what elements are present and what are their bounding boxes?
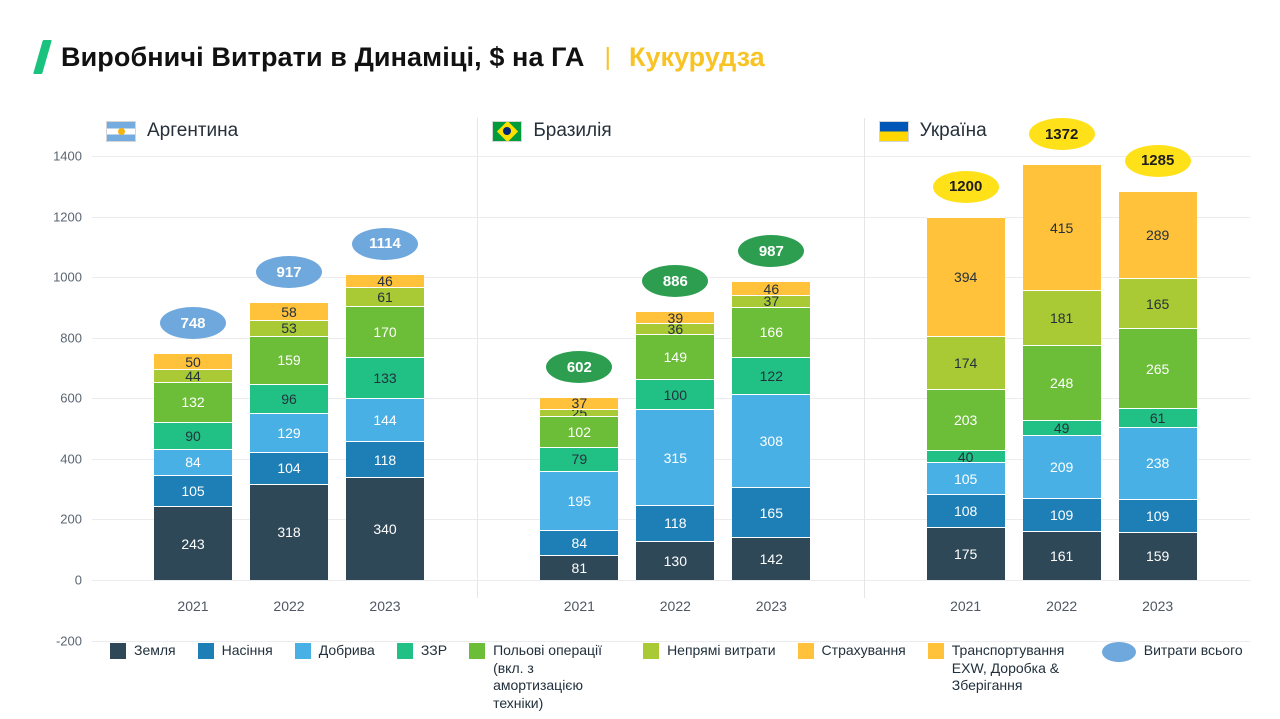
bar-segment[interactable]: 174	[927, 336, 1005, 389]
bar-group[interactable]: 340118144133170614611142023	[346, 118, 424, 598]
bar-group[interactable]: 1751081054020317439412002021	[927, 118, 1005, 598]
legend-item[interactable]: Насіння	[198, 642, 273, 660]
bar-segment[interactable]: 340	[346, 477, 424, 580]
legend-item[interactable]: Непрямі витрати	[643, 642, 775, 660]
x-axis-label: 2023	[732, 598, 810, 614]
total-badge: 1114	[352, 228, 418, 260]
chart-legend: ЗемляНасінняДобриваЗЗРПольові операції (…	[110, 642, 1266, 712]
bar-segment[interactable]: 142	[732, 537, 810, 580]
bar-segment[interactable]: 170	[346, 306, 424, 357]
bar-segment[interactable]: 394	[927, 217, 1005, 336]
legend-item[interactable]: Польові операції (вкл. з амортизацією те…	[469, 642, 621, 712]
legend-label: ЗЗР	[421, 642, 447, 660]
bar-segment[interactable]: 315	[636, 409, 714, 504]
bar-group[interactable]: 13011831510014936398862022	[636, 118, 714, 598]
bar-segment[interactable]: 53	[250, 320, 328, 336]
bar-segment[interactable]: 144	[346, 398, 424, 442]
bar-segment[interactable]: 58	[250, 302, 328, 320]
bar-segment[interactable]: 209	[1023, 435, 1101, 498]
legend-swatch-icon	[469, 643, 485, 659]
x-axis-label: 2022	[1023, 598, 1101, 614]
bar-segment[interactable]: 102	[540, 416, 618, 447]
total-badge: 602	[546, 351, 612, 383]
country-panel-2: Бразилія81841957910225376022021130118315…	[477, 118, 863, 598]
bar-segment[interactable]: 149	[636, 334, 714, 379]
bar-area: 1751081054020317439412002021161109209492…	[865, 118, 1250, 598]
bar-segment[interactable]: 122	[732, 357, 810, 394]
bar-segment[interactable]: 129	[250, 413, 328, 452]
bar-segment[interactable]: 36	[636, 323, 714, 334]
y-axis: 1400120010008006004002000-200	[0, 118, 92, 598]
plot-area: Аргентина2431058490132445074820213181041…	[92, 118, 1250, 598]
stacked-bar[interactable]: 15910923861265165289	[1119, 118, 1197, 598]
stacked-bar[interactable]: 1301183151001493639	[636, 118, 714, 598]
bar-segment[interactable]: 96	[250, 384, 328, 413]
bar-segment[interactable]: 104	[250, 452, 328, 483]
total-badge: 987	[738, 235, 804, 267]
bar-segment[interactable]: 203	[927, 389, 1005, 450]
stacked-bar-chart: 1400120010008006004002000-200 Аргентина2…	[0, 118, 1280, 648]
bar-segment[interactable]: 159	[250, 336, 328, 384]
legend-ellipse-icon	[1102, 642, 1136, 662]
bar-segment[interactable]: 289	[1119, 191, 1197, 279]
title-slash-icon	[33, 40, 52, 74]
x-axis-label: 2021	[927, 598, 1005, 614]
bar-segment[interactable]: 166	[732, 307, 810, 357]
total-badge: 1372	[1029, 118, 1095, 150]
chart-page: Виробничі Витрати в Динаміці, $ на ГА | …	[0, 0, 1280, 719]
legend-swatch-icon	[643, 643, 659, 659]
legend-label: Земля	[134, 642, 176, 660]
legend-label: Витрати всього	[1144, 642, 1243, 660]
bar-segment[interactable]: 61	[346, 287, 424, 305]
bar-segment[interactable]: 105	[927, 462, 1005, 494]
bar-group[interactable]: 3181041299615953589172022	[250, 118, 328, 598]
bar-segment[interactable]: 308	[732, 394, 810, 487]
legend-swatch-icon	[798, 643, 814, 659]
bar-segment[interactable]: 61	[1119, 408, 1197, 426]
bar-segment[interactable]: 165	[732, 487, 810, 537]
country-panels: Аргентина2431058490132445074820213181041…	[92, 118, 1250, 598]
y-axis-tick: 1400	[53, 149, 82, 164]
x-axis-label: 2022	[250, 598, 328, 614]
country-panel-3: Україна175108105402031743941200202116110…	[864, 118, 1250, 598]
bar-segment[interactable]: 165	[1119, 278, 1197, 328]
bar-segment[interactable]: 100	[636, 379, 714, 409]
x-axis-label: 2023	[1119, 598, 1197, 614]
legend-swatch-icon	[397, 643, 413, 659]
bar-segment[interactable]: 39	[636, 311, 714, 323]
stacked-bar[interactable]: 318104129961595358	[250, 118, 328, 598]
bar-segment[interactable]: 175	[927, 527, 1005, 580]
page-title: Виробничі Витрати в Динаміці, $ на ГА | …	[38, 40, 765, 74]
bar-segment[interactable]: 132	[154, 382, 232, 422]
x-axis-label: 2022	[636, 598, 714, 614]
legend-item[interactable]: Земля	[110, 642, 176, 660]
legend-label: Польові операції (вкл. з амортизацією те…	[493, 642, 621, 712]
y-axis-tick: -200	[56, 633, 82, 648]
legend-label: Страхування	[822, 642, 906, 660]
y-axis-tick: 200	[60, 512, 82, 527]
bar-area: 2431058490132445074820213181041299615953…	[92, 118, 477, 598]
legend-item[interactable]: ЗЗР	[397, 642, 447, 660]
bar-segment[interactable]: 195	[540, 471, 618, 530]
bar-segment[interactable]: 181	[1023, 290, 1101, 345]
total-badge: 917	[256, 256, 322, 288]
stacked-bar[interactable]: 1421653081221663746	[732, 118, 810, 598]
bar-segment[interactable]: 108	[927, 494, 1005, 527]
y-axis-tick: 1200	[53, 209, 82, 224]
y-axis-tick: 400	[60, 451, 82, 466]
total-badge: 886	[642, 265, 708, 297]
bar-segment[interactable]: 415	[1023, 164, 1101, 290]
bar-segment[interactable]: 25	[540, 409, 618, 417]
x-axis-label: 2021	[154, 598, 232, 614]
bar-group[interactable]: 243105849013244507482021	[154, 118, 232, 598]
legend-label: Добрива	[319, 642, 375, 660]
stacked-bar[interactable]: 16110920949248181415	[1023, 118, 1101, 598]
legend-label: Транспортування EXW, Доробка & Зберіганн…	[952, 642, 1080, 695]
total-badge: 748	[160, 307, 226, 339]
bar-segment[interactable]: 40	[927, 450, 1005, 462]
bar-segment[interactable]: 46	[346, 274, 424, 288]
bar-segment[interactable]: 130	[636, 541, 714, 580]
legend-item[interactable]: Витрати всього	[1102, 642, 1243, 662]
bar-segment[interactable]: 37	[540, 397, 618, 408]
bar-group[interactable]: 1611092094924818141513722022	[1023, 118, 1101, 598]
y-axis-tick: 1000	[53, 270, 82, 285]
bar-segment[interactable]: 84	[154, 449, 232, 474]
legend-item[interactable]: Транспортування EXW, Доробка & Зберіганн…	[928, 642, 1080, 695]
total-badge: 1200	[933, 171, 999, 203]
y-axis-tick: 800	[60, 330, 82, 345]
legend-swatch-icon	[110, 643, 126, 659]
title-crop-text: Кукурудза	[629, 42, 765, 73]
bar-segment[interactable]: 81	[540, 555, 618, 580]
legend-item[interactable]: Страхування	[798, 642, 906, 660]
y-axis-tick: 600	[60, 391, 82, 406]
legend-swatch-icon	[295, 643, 311, 659]
bar-area: 8184195791022537602202113011831510014936…	[478, 118, 863, 598]
bar-segment[interactable]: 133	[346, 357, 424, 397]
bar-segment[interactable]: 50	[154, 353, 232, 368]
bar-group[interactable]: 14216530812216637469872023	[732, 118, 810, 598]
x-axis-label: 2021	[540, 598, 618, 614]
stacked-bar[interactable]: 3401181441331706146	[346, 118, 424, 598]
bar-segment[interactable]: 84	[540, 530, 618, 555]
bar-segment[interactable]: 109	[1023, 498, 1101, 531]
bar-segment[interactable]: 159	[1119, 532, 1197, 580]
bar-group[interactable]: 81841957910225376022021	[540, 118, 618, 598]
bar-segment[interactable]: 118	[346, 441, 424, 477]
title-separator: |	[604, 43, 611, 72]
bar-segment[interactable]: 248	[1023, 345, 1101, 420]
bar-segment[interactable]: 109	[1119, 499, 1197, 532]
legend-item[interactable]: Добрива	[295, 642, 375, 660]
bar-segment[interactable]: 44	[154, 369, 232, 382]
bar-segment[interactable]: 49	[1023, 420, 1101, 435]
country-panel-1: Аргентина2431058490132445074820213181041…	[92, 118, 477, 598]
bar-segment[interactable]: 318	[250, 484, 328, 580]
legend-swatch-icon	[198, 643, 214, 659]
total-badge: 1285	[1125, 145, 1191, 177]
bar-segment[interactable]: 79	[540, 447, 618, 471]
bar-segment[interactable]: 105	[154, 475, 232, 507]
x-axis-label: 2023	[346, 598, 424, 614]
y-axis-tick: 0	[75, 573, 82, 588]
bar-segment[interactable]: 118	[636, 505, 714, 541]
bar-segment[interactable]: 90	[154, 422, 232, 449]
bar-segment[interactable]: 46	[732, 281, 810, 295]
stacked-bar[interactable]: 24310584901324450	[154, 118, 232, 598]
legend-swatch-icon	[928, 643, 944, 659]
bar-segment[interactable]: 265	[1119, 328, 1197, 408]
legend-label: Непрямі витрати	[667, 642, 775, 660]
bar-segment[interactable]: 238	[1119, 427, 1197, 499]
bar-segment[interactable]: 161	[1023, 531, 1101, 580]
bar-segment[interactable]: 37	[732, 295, 810, 306]
bar-segment[interactable]: 243	[154, 506, 232, 580]
title-main-text: Виробничі Витрати в Динаміці, $ на ГА	[61, 42, 584, 73]
legend-label: Насіння	[222, 642, 273, 660]
bar-group[interactable]: 1591092386126516528912852023	[1119, 118, 1197, 598]
